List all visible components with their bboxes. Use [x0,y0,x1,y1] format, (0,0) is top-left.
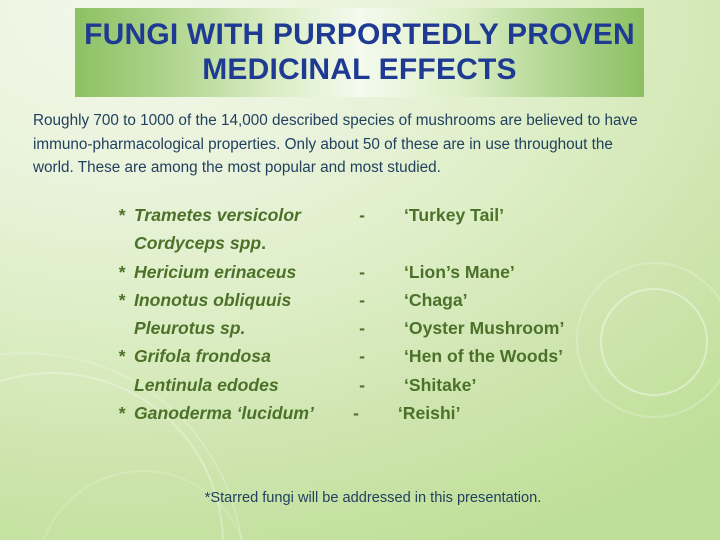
slide-title-banner: FUNGI WITH PURPORTEDLY PROVEN MEDICINAL … [75,8,644,97]
list-item: Pleurotus sp. - ‘Oyster Mushroom’ [118,318,588,346]
common-name: ‘Chaga’ [378,290,468,311]
decorative-ring-icon [600,288,708,396]
decorative-ring-icon [576,262,720,418]
separator-dash: - [346,290,378,311]
species-name: Trametes versicolor [134,205,346,226]
species-name: Grifola frondosa [134,346,346,367]
presentation-slide: FUNGI WITH PURPORTEDLY PROVEN MEDICINAL … [0,0,720,540]
species-name: Inonotus obliquuis [134,290,346,311]
list-item: * Inonotus obliquuis - ‘Chaga’ [118,290,588,318]
starred-marker: * [118,346,134,367]
starred-marker: * [118,290,134,311]
list-item: Lentinula edodes - ‘Shitake’ [118,375,588,403]
list-item: * Hericium erinaceus - ‘Lion’s Mane’ [118,262,588,290]
separator-dash: - [341,403,371,424]
starred-marker: * [118,403,134,424]
species-name: Lentinula edodes [134,375,346,396]
list-item: * Grifola frondosa - ‘Hen of the Woods’ [118,346,588,374]
common-name: ‘Lion’s Mane’ [378,262,515,283]
separator-dash: - [346,205,378,226]
common-name: ‘Hen of the Woods’ [378,346,563,367]
species-name: Hericium erinaceus [134,262,346,283]
separator-dash: - [346,346,378,367]
list-item: * Trametes versicolor - ‘Turkey Tail’ [118,205,588,233]
common-name: ‘Reishi’ [371,403,460,424]
list-item: * Ganoderma ‘lucidum’ - ‘Reishi’ [118,403,588,431]
intro-paragraph: Roughly 700 to 1000 of the 14,000 descri… [33,109,649,180]
species-name: Ganoderma ‘lucidum’ [134,403,341,424]
species-name: Cordyceps spp. [134,233,346,254]
list-item: Cordyceps spp. [118,233,588,261]
starred-marker: * [118,262,134,283]
species-list: * Trametes versicolor - ‘Turkey Tail’ Co… [118,205,588,431]
species-name-text: Cordyceps spp [134,233,261,253]
separator-dash: - [346,262,378,283]
separator-dash: - [346,318,378,339]
species-name-period: . [261,233,266,253]
footnote-text: *Starred fungi will be addressed in this… [0,490,720,506]
starred-marker: * [118,205,134,226]
separator-dash: - [346,375,378,396]
common-name: ‘Oyster Mushroom’ [378,318,564,339]
common-name: ‘Shitake’ [378,375,476,396]
page-title: FUNGI WITH PURPORTEDLY PROVEN MEDICINAL … [75,18,644,88]
species-name: Pleurotus sp. [134,318,346,339]
common-name: ‘Turkey Tail’ [378,205,504,226]
